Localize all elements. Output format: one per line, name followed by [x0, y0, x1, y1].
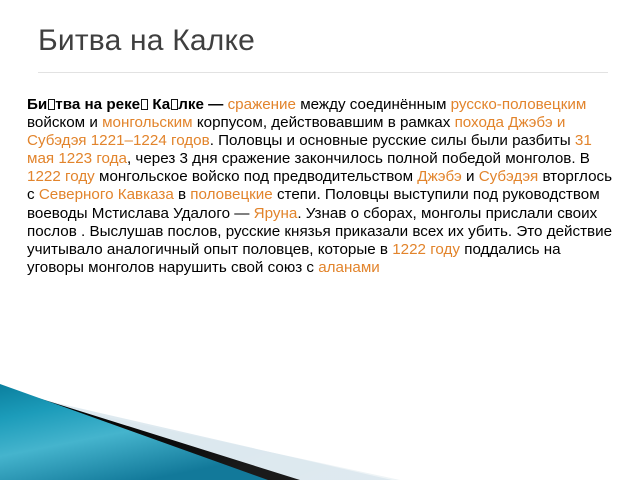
- page-title: Битва на Калке: [38, 22, 608, 60]
- body-link[interactable]: сражение: [228, 96, 296, 113]
- title-divider: [38, 72, 608, 73]
- stress-mark-glyph: [141, 99, 148, 110]
- stress-mark-glyph: [171, 99, 178, 110]
- slide-body-placeholder[interactable]: Битва на реке Калке — сражение между сое…: [27, 96, 617, 277]
- body-link[interactable]: –: [125, 132, 133, 149]
- body-link[interactable]: Джэбэ: [417, 168, 461, 185]
- body-link[interactable]: Яруна: [254, 205, 298, 222]
- body-text: . Половцы и основные русские силы были р…: [210, 132, 575, 149]
- slide-canvas: Битва на Калке Битва на реке Калке — сра…: [0, 0, 640, 480]
- body-link[interactable]: монгольским: [102, 114, 193, 131]
- body-link[interactable]: 1222 году: [392, 241, 460, 258]
- body-link[interactable]: аланами: [318, 259, 380, 276]
- body-lead-text: лке —: [178, 96, 227, 113]
- body-link[interactable]: половецкие: [190, 186, 272, 203]
- body-text: , через 3 дня сражение закончилось полно…: [127, 150, 590, 167]
- body-text: между соединённым: [296, 96, 451, 113]
- body-link[interactable]: Северного Кавказа: [39, 186, 174, 203]
- body-text: монгольское войско под предводительством: [95, 168, 418, 185]
- body-link[interactable]: русско-половецким: [451, 96, 587, 113]
- body-text: и: [462, 168, 479, 185]
- body-lead-text: тва на реке: [55, 96, 140, 113]
- body-paragraph: Битва на реке Калке — сражение между сое…: [27, 96, 617, 277]
- stress-mark-glyph: [48, 99, 55, 110]
- body-text: войском и: [27, 114, 102, 131]
- slide-title-placeholder[interactable]: Битва на Калке: [38, 22, 608, 74]
- corner-swoosh-decoration: [0, 350, 640, 480]
- body-link[interactable]: 1224 годов: [133, 132, 210, 149]
- body-link[interactable]: 1222 году: [27, 168, 95, 185]
- body-link[interactable]: Субэдэя: [479, 168, 539, 185]
- body-lead-text: Би: [27, 96, 47, 113]
- body-text: корпусом, действовавшим в рамках: [193, 114, 455, 131]
- body-text: в: [174, 186, 191, 203]
- body-lead-text: Ка: [148, 96, 170, 113]
